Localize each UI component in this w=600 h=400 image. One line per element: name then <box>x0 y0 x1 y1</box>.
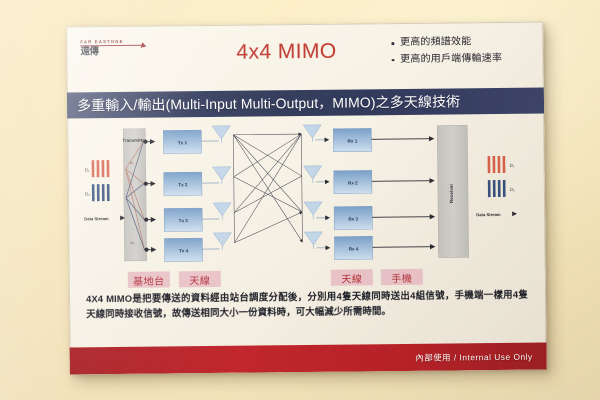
tx-box-label-3: Tx 3 <box>179 218 189 223</box>
section-banner: 多重輸入/輸出(Multi-Input Multi-Output，MIMO)之多… <box>67 88 544 119</box>
weight-label-w2: w₂ <box>130 240 135 245</box>
banner-title: 多重輸入/輸出(Multi-Input Multi-Output，MIMO)之多… <box>67 91 460 115</box>
logo-brand-cn: 遠傳 <box>80 47 142 57</box>
tx-antenna-icon-group <box>212 126 231 246</box>
page-title: 4x4 MIMO <box>236 40 336 65</box>
output-data-stream-d1: D₁ <box>488 156 515 173</box>
diagram-label-antenna-tx: 天線 <box>179 271 221 287</box>
footer-confidentiality-notice: 內部使用 / Internal Use Only <box>415 350 546 363</box>
svg-text:D₁: D₁ <box>85 167 90 172</box>
output-data-stream-label: Data Stream <box>476 212 501 217</box>
bullet-dot-icon <box>392 59 395 62</box>
footer-bar: 內部使用 / Internal Use Only <box>70 342 547 374</box>
rx-box-label-2: Rx 2 <box>348 180 358 185</box>
poster-board: FAR EASTONE 遠傳 4x4 MIMO 更高的頻譜效能 更高的用戶端傳輸… <box>66 22 547 375</box>
mimo-diagram: Transmitter w₁ w₂ Receiver D₁ D₂ Data <box>67 118 546 275</box>
diagram-label-handset: 手機 <box>381 269 423 285</box>
rx-box-label-4: Rx 4 <box>349 246 359 251</box>
input-data-stream-d2: D₂ <box>85 184 110 201</box>
svg-text:D₁: D₁ <box>510 163 515 168</box>
far-eastone-logo: FAR EASTONE 遠傳 <box>80 40 142 58</box>
mimo-channel-paths <box>233 134 302 243</box>
tx-box-label-4: Tx 4 <box>179 248 189 253</box>
bullet-label: 更高的頻譜效能 <box>400 35 472 49</box>
body-paragraph: 4X4 MIMO是把要傳送的資料經由站台調度分配後，分別用4隻天線同時送出4組信… <box>86 288 528 322</box>
tx-box-label-2: Tx 2 <box>178 182 188 187</box>
input-data-stream-label: Data Stream <box>84 216 109 221</box>
receiver-label: Receiver <box>449 184 454 203</box>
rx-box-label-1: Rx 1 <box>348 138 358 143</box>
svg-text:D₂: D₂ <box>510 187 515 192</box>
tx-box-group: Tx 1 Tx 2 Tx 3 Tx 4 <box>163 130 202 261</box>
mimo-diagram-svg: Transmitter w₁ w₂ Receiver D₁ D₂ Data <box>67 118 546 275</box>
bullet-dot-icon <box>391 42 394 45</box>
poster-header: FAR EASTONE 遠傳 4x4 MIMO 更高的頻譜效能 更高的用戶端傳輸… <box>66 22 544 93</box>
diagram-label-antenna-rx: 天線 <box>331 269 373 285</box>
svg-text:D₂: D₂ <box>85 191 90 196</box>
diagram-label-base-station: 基地台 <box>128 271 170 287</box>
tx-box-label-1: Tx 1 <box>178 140 188 145</box>
list-item: 更高的用戶端傳輸速率 <box>391 51 502 66</box>
diagram-bottom-labels: 基地台 天線 天線 手機 <box>69 267 546 290</box>
feature-bullet-list: 更高的頻譜效能 更高的用戶端傳輸速率 <box>391 35 502 69</box>
bullet-label: 更高的用戶端傳輸速率 <box>400 51 502 66</box>
rx-antenna-icon-group <box>303 125 322 245</box>
input-data-stream-d1: D₁ <box>85 160 110 177</box>
rx-box-group: Rx 1 Rx 2 Rx 3 Rx 4 <box>333 128 372 259</box>
output-data-stream-d2: D₂ <box>488 180 515 197</box>
rx-box-label-3: Rx 3 <box>348 216 358 221</box>
list-item: 更高的頻譜效能 <box>391 35 502 50</box>
